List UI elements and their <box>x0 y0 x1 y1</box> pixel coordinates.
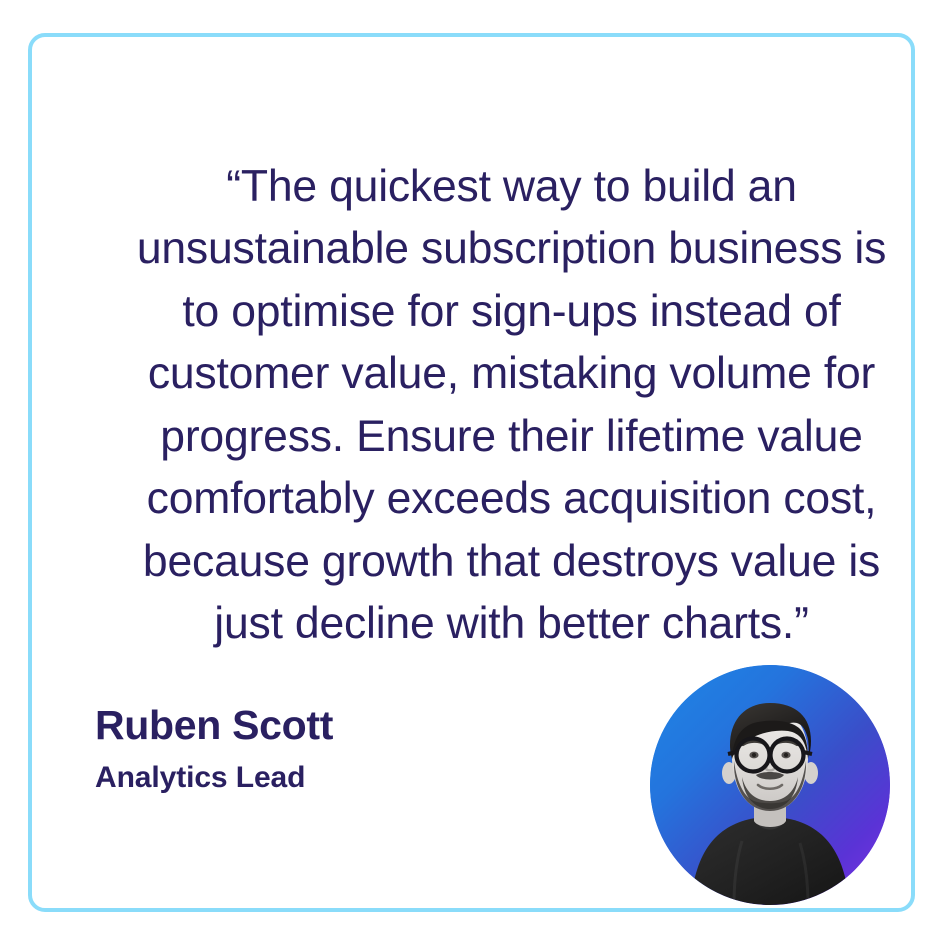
quote-text: “The quickest way to build an unsustaina… <box>117 156 907 656</box>
avatar-portrait-icon <box>650 665 890 905</box>
author-name: Ruben Scott <box>95 701 615 750</box>
attribution-block: Ruben Scott Analytics Lead <box>95 701 615 796</box>
avatar <box>650 665 890 905</box>
testimonial-card-root: “The quickest way to build an unsustaina… <box>0 0 943 943</box>
quote-card: “The quickest way to build an unsustaina… <box>28 33 915 912</box>
author-role: Analytics Lead <box>95 760 615 796</box>
